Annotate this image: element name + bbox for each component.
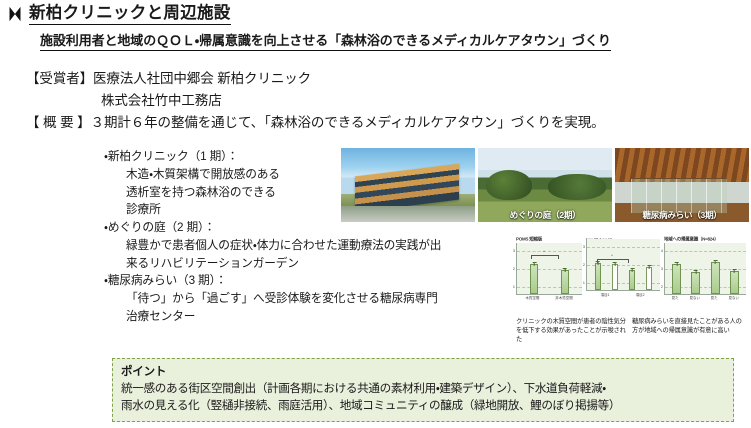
bar — [530, 264, 538, 294]
list-item-body: 緑豊かで患者個人の症状・体力に合わせた運動療法の実践が出来るリハビリテーションガ… — [104, 237, 444, 273]
chart-x-labels: 見た 見ない 見た 見ない — [664, 295, 746, 300]
bar — [595, 263, 601, 290]
bar — [711, 262, 720, 294]
x-tick: 項目1 — [601, 291, 610, 297]
summary-row: 【 概 要 】３期計６年の整備を通じて、「森林浴のできるメディカルケアタウン」づ… — [26, 112, 736, 134]
bar — [730, 271, 739, 294]
chart-plot-area: 3 2 1 * — [516, 243, 582, 295]
recipient-row-2: 株式会社竹中工務店 — [26, 90, 736, 112]
bar — [691, 272, 700, 294]
chart-caption-left: クリニックの木質空間が患者の陰性気分を低下する効果があったことが示唆された — [516, 318, 626, 345]
point-box-line-2: 雨水の見える化（竪樋非接続、雨庭活用）、地域コミュニティの醸成（緑地開放、鯉のぼ… — [121, 397, 725, 414]
x-tick: 項目2 — [636, 291, 645, 297]
bar — [672, 264, 681, 294]
chart-strip: POMS 短縮版 3 2 1 * 木質空間 非木質空間 * p<.05 † p<… — [516, 238, 748, 300]
photo-strip: 新柏クリニック（1期） めぐりの庭（2期） 糖尿病みらい（3期） — [341, 148, 749, 222]
photo-garden: めぐりの庭（2期） — [478, 148, 612, 222]
recipient-name-2: 株式会社竹中工務店 — [101, 93, 222, 108]
x-tick: 見た — [710, 295, 717, 301]
y-tick: 3 — [582, 245, 584, 250]
diamond-icon — [10, 7, 21, 21]
point-box: ポイント 統一感のある街区空間創出（計画各期における共通の素材利用・建築デザイン… — [112, 358, 734, 422]
bar — [646, 267, 652, 290]
y-tick: 3 — [512, 249, 514, 254]
summary-label: 【 概 要 】 — [26, 115, 91, 130]
chart-bars — [667, 243, 744, 294]
photo-caption: めぐりの庭（2期） — [478, 209, 612, 221]
list-item-body: 木造・木質架構で開放感のある透析室を持つ森林浴のできる診療所 — [104, 166, 286, 219]
page-title: 新柏クリニックと周辺施設 — [8, 4, 231, 25]
chart-bars — [519, 243, 580, 294]
y-tick: 3 — [660, 267, 662, 272]
y-tick: 1 — [512, 285, 514, 290]
bar — [629, 270, 635, 290]
recipient-label: 【受賞者】 — [26, 71, 93, 86]
photo-interior-corridor: 糖尿病みらい（3期） — [615, 148, 749, 222]
list-item: ・めぐりの庭（2 期）： 緑豊かで患者個人の症状・体力に合わせた運動療法の実践が… — [104, 219, 424, 272]
y-tick: 4 — [660, 249, 662, 254]
chart-caption-row: クリニックの木質空間が患者の陰性気分を低下する効果があったことが示唆された 糖尿… — [516, 318, 751, 345]
recipient-row-1: 【受賞者】医療法人社団中郷会 新柏クリニック — [26, 68, 736, 90]
y-tick: 2 — [582, 263, 584, 268]
list-item-head: ・糖尿病みらい（3 期）： — [104, 272, 424, 290]
photo-clinic-exterior: 新柏クリニック（1期） — [341, 148, 475, 222]
point-box-label: ポイント — [121, 363, 725, 379]
x-tick: 見ない — [728, 295, 739, 301]
chart-plot-area: 4 3 2 — [664, 243, 746, 295]
photo-caption: 新柏クリニック（1期） — [341, 209, 475, 221]
chart-poms: POMS 短縮版 3 2 1 * 木質空間 非木質空間 — [516, 238, 582, 300]
chart-x-labels: 項目1 項目2 — [586, 292, 660, 297]
chart-belonging: 地域への帰属意識（N=824） 4 3 2 見た 見ない 見た 見ない — [664, 238, 746, 300]
x-tick: 木質空間 — [526, 295, 540, 301]
meta-block: 【受賞者】医療法人社団中郷会 新柏クリニック 株式会社竹中工務店 【 概 要 】… — [26, 68, 736, 134]
recipient-name-1: 医療法人社団中郷会 新柏クリニック — [93, 71, 311, 86]
summary-text: ３期計６年の整備を通じて、「森林浴のできるメディカルケアタウン」づくりを実現。 — [91, 115, 605, 130]
list-item-body: 「待つ」から「過ごす」へ受診体験を変化させる糖尿病専門治療センター — [104, 290, 444, 326]
point-box-line-1: 統一感のある街区空間創出（計画各期における共通の素材利用・建築デザイン）、下水道… — [121, 380, 725, 397]
bar — [561, 270, 569, 294]
chart-plot-area: 3 2 1 * — [586, 239, 660, 291]
x-tick: 非木質空間 — [555, 295, 573, 301]
y-tick: 2 — [660, 285, 662, 290]
bar — [612, 264, 618, 290]
chart-grouped: * p<.05 † p<.10 Ｎ＝木質あり Ｎ＝木質なし 3 2 1 * — [586, 238, 660, 300]
x-tick: 見ない — [689, 295, 700, 301]
chart-caption-right: 糖尿病みらいを直接見たことがある人の方が地域への帰属意識が有意に高い — [632, 318, 744, 345]
x-tick: 見た — [671, 295, 678, 301]
page-title-text: 新柏クリニックと周辺施設 — [29, 4, 231, 25]
chart-x-labels: 木質空間 非木質空間 — [516, 295, 582, 300]
y-tick: 2 — [512, 267, 514, 272]
chart-bars — [589, 239, 658, 290]
list-item: ・糖尿病みらい（3 期）： 「待つ」から「過ごす」へ受診体験を変化させる糖尿病専… — [104, 272, 424, 325]
page-subtitle: 施設利用者と地域のＱＯＬ・帰属意識を向上させる「森林浴のできるメディカルケアタウ… — [40, 30, 611, 51]
y-tick: 1 — [582, 281, 584, 286]
photo-caption: 糖尿病みらい（3期） — [615, 209, 749, 221]
